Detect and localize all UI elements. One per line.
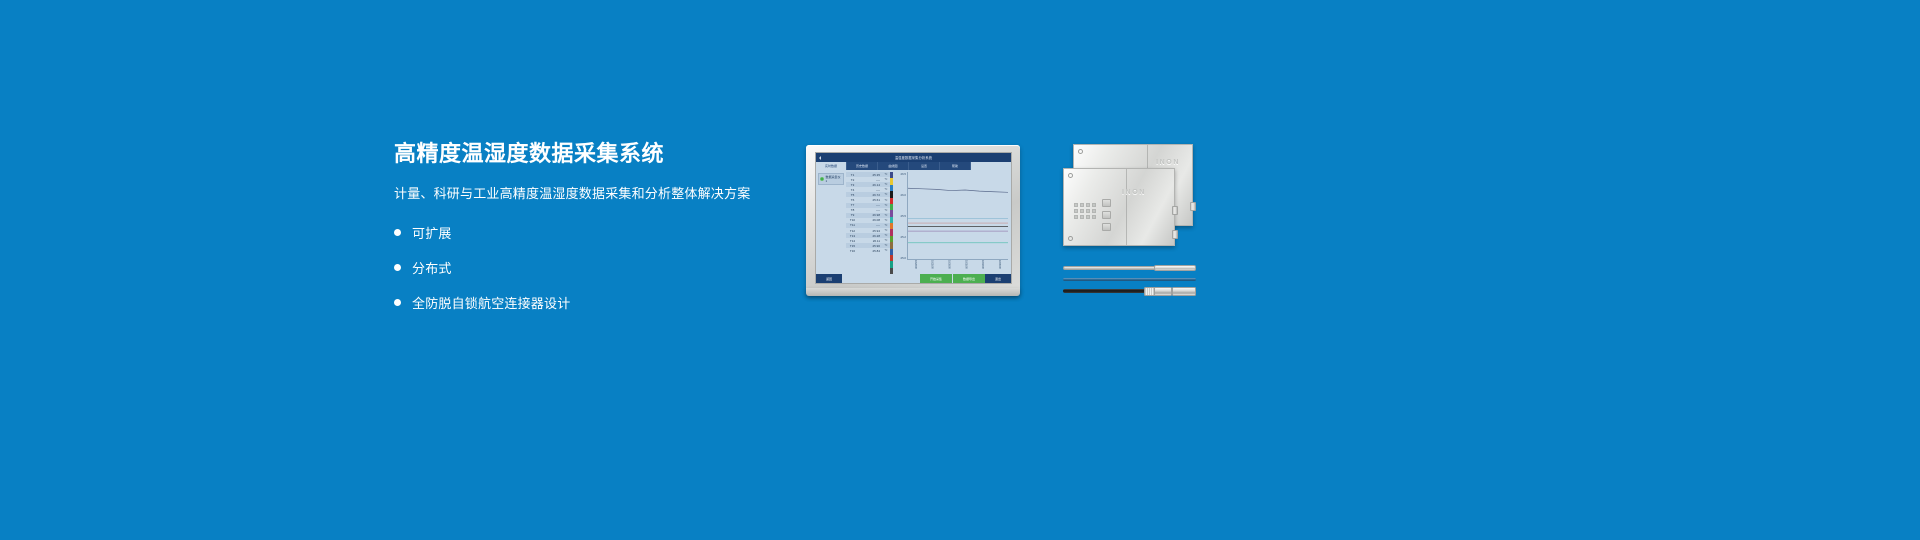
realtime-line-chart: 26.526.025.525.225.0 10:20:0010:25:0010:… <box>893 170 1011 274</box>
chart-x-axis: 10:20:0010:25:0010:30:0010:35:0010:40:00… <box>907 260 1008 273</box>
channel-unit: ℃ <box>882 239 890 242</box>
banner-text-block: 高精度温湿度数据采集系统 计量、科研与工业高精度温湿度数据采集和分析整体解决方案… <box>394 141 794 328</box>
tab-history-data[interactable]: 历史数据 <box>847 162 878 170</box>
bullet-dot-icon <box>394 229 401 236</box>
channel-unit: ℃ <box>882 178 890 181</box>
channel-unit: ℃ <box>882 244 890 247</box>
bullet-dot-icon <box>394 264 401 271</box>
channel-value: 26.28 <box>859 234 882 238</box>
tab-bar-filler <box>971 162 1011 170</box>
channel-unit: ℃ <box>882 214 890 217</box>
sensor-cable-blue <box>1063 278 1196 281</box>
channel-unit: ℃ <box>882 173 890 176</box>
feature-label: 可扩展 <box>412 223 452 242</box>
page-subtitle: 计量、科研与工业高精度温湿度数据采集和分析整体解决方案 <box>394 186 794 203</box>
panel-pc-device: 温湿度数据采集分析系统 实时数据 历史数据 曲线图 设置 帮助 数据采集仪 1 … <box>806 145 1020 295</box>
channel-value: 25.35 <box>859 173 882 177</box>
device-name: 数据采集仪 1 <box>826 175 843 183</box>
footer-spacer <box>842 274 919 283</box>
chart-y-axis: 26.526.025.525.225.0 <box>895 172 906 260</box>
module-logo: INON <box>1156 159 1180 166</box>
list-item: 全防脱自锁航空连接器设计 <box>394 293 794 312</box>
screw-icon <box>1068 173 1073 178</box>
acquisition-module-front: INON <box>1063 168 1175 246</box>
channel-label: T4 <box>846 188 859 192</box>
channel-label: T6 <box>846 198 859 202</box>
app-footer-toolbar: 返回 开始采集 数据导出 退出 <box>816 274 1011 283</box>
channel-value: ---- <box>859 223 882 227</box>
chart-series-svg <box>908 172 1008 259</box>
channel-label: T16 <box>846 249 859 253</box>
x-axis-tick: 10:20:00 <box>914 260 917 273</box>
channel-value: 26.72 <box>859 193 882 197</box>
channel-label: T14 <box>846 239 859 243</box>
channel-value: 25.84 <box>859 249 882 253</box>
channel-table: T125.35℃T2----℃T326.14℃T4----℃T526.72℃T6… <box>846 170 890 274</box>
label-grid-marking <box>1074 203 1096 219</box>
temperature-probe-stainless <box>1063 266 1196 270</box>
app-body: 数据采集仪 1 T125.35℃T2----℃T326.14℃T4----℃T5… <box>816 170 1011 274</box>
x-axis-tick: 10:25:00 <box>931 260 934 273</box>
channel-unit: ℃ <box>882 234 890 237</box>
channel-value: ---- <box>859 188 882 192</box>
channel-unit: ℃ <box>882 199 890 202</box>
status-led-icon <box>820 177 824 181</box>
channel-label: T11 <box>846 223 859 227</box>
feature-label: 分布式 <box>412 258 452 277</box>
table-row[interactable]: T1625.84℃ <box>846 248 890 253</box>
page-title: 高精度温湿度数据采集系统 <box>394 141 794 167</box>
channel-value: 26.98 <box>859 213 882 217</box>
chart-series-line <box>908 188 1008 192</box>
tab-help[interactable]: 帮助 <box>940 162 971 170</box>
channel-value: ---- <box>859 203 882 207</box>
channel-value: ---- <box>859 178 882 182</box>
x-axis-tick: 10:45:00 <box>998 260 1001 273</box>
sensor-probes-group <box>1063 258 1203 298</box>
channel-label: T15 <box>846 244 859 248</box>
bullet-dot-icon <box>394 299 401 306</box>
channel-value: ---- <box>859 208 882 212</box>
channel-label: T13 <box>846 234 859 238</box>
channel-label: T3 <box>846 183 859 187</box>
y-axis-tick: 25.5 <box>901 214 906 218</box>
chart-plot-area <box>907 172 1008 260</box>
connector-port <box>1190 202 1196 211</box>
product-banner: 高精度温湿度数据采集系统 计量、科研与工业高精度温湿度数据采集和分析整体解决方案… <box>0 0 1920 540</box>
screw-icon <box>1068 236 1073 241</box>
y-axis-tick: 25.2 <box>901 235 906 239</box>
exit-button[interactable]: 退出 <box>985 274 1011 283</box>
channel-unit: ℃ <box>882 249 890 252</box>
channel-unit: ℃ <box>882 209 890 212</box>
list-item: 分布式 <box>394 258 794 277</box>
channel-label: T7 <box>846 203 859 207</box>
channel-unit: ℃ <box>882 219 890 222</box>
x-axis-tick: 10:40:00 <box>981 260 984 273</box>
device-tree-panel: 数据采集仪 1 <box>816 170 846 274</box>
tab-settings[interactable]: 设置 <box>909 162 940 170</box>
device-tree-item[interactable]: 数据采集仪 1 <box>818 173 844 185</box>
channel-value: 25.94 <box>859 229 882 233</box>
x-axis-tick: 10:35:00 <box>964 260 967 273</box>
channel-label: T5 <box>846 193 859 197</box>
channel-unit: ℃ <box>882 224 890 227</box>
channel-unit: ℃ <box>882 229 890 232</box>
list-item: 可扩展 <box>394 223 794 242</box>
tab-bar: 实时数据 历史数据 曲线图 设置 帮助 <box>816 162 1011 170</box>
channel-unit: ℃ <box>882 204 890 207</box>
channel-value: 26.14 <box>859 183 882 187</box>
panel-pc-screen: 温湿度数据采集分析系统 实时数据 历史数据 曲线图 设置 帮助 数据采集仪 1 … <box>815 152 1012 284</box>
terminal-blocks <box>1102 199 1111 235</box>
connector-port <box>1172 230 1178 239</box>
channel-value: 26.11 <box>859 239 882 243</box>
x-axis-tick: 10:30:00 <box>948 260 951 273</box>
channel-unit: ℃ <box>882 193 890 196</box>
channel-unit: ℃ <box>882 188 890 191</box>
tab-realtime-data[interactable]: 实时数据 <box>816 162 847 170</box>
back-arrow-icon[interactable] <box>819 156 821 160</box>
screw-icon <box>1078 149 1083 154</box>
y-axis-tick: 26.5 <box>901 172 906 176</box>
channel-label: T8 <box>846 208 859 212</box>
channel-label: T9 <box>846 213 859 217</box>
channel-unit: ℃ <box>882 183 890 186</box>
feature-label: 全防脱自锁航空连接器设计 <box>412 293 570 312</box>
feature-list: 可扩展 分布式 全防脱自锁航空连接器设计 <box>394 223 794 312</box>
channel-value: 26.08 <box>859 218 882 222</box>
start-acquisition-button[interactable]: 开始采集 <box>919 274 952 283</box>
channel-label: T2 <box>846 178 859 182</box>
module-logo: INON <box>1122 189 1146 196</box>
channel-value: 25.90 <box>859 244 882 248</box>
app-title: 温湿度数据采集分析系统 <box>895 155 932 160</box>
y-axis-tick: 26.0 <box>901 193 906 197</box>
channel-value: 25.61 <box>859 198 882 202</box>
app-titlebar: 温湿度数据采集分析系统 <box>816 153 1011 162</box>
connector-port <box>1172 206 1178 215</box>
channel-label: T12 <box>846 229 859 233</box>
y-axis-tick: 25.0 <box>901 256 906 260</box>
channel-label: T1 <box>846 173 859 177</box>
sensor-cable-black-aviation-connector <box>1063 289 1196 293</box>
tab-curve-chart[interactable]: 曲线图 <box>878 162 909 170</box>
export-data-button[interactable]: 数据导出 <box>952 274 985 283</box>
panel-pc-stand <box>806 288 1020 296</box>
back-button[interactable]: 返回 <box>816 274 842 283</box>
channel-label: T10 <box>846 218 859 222</box>
